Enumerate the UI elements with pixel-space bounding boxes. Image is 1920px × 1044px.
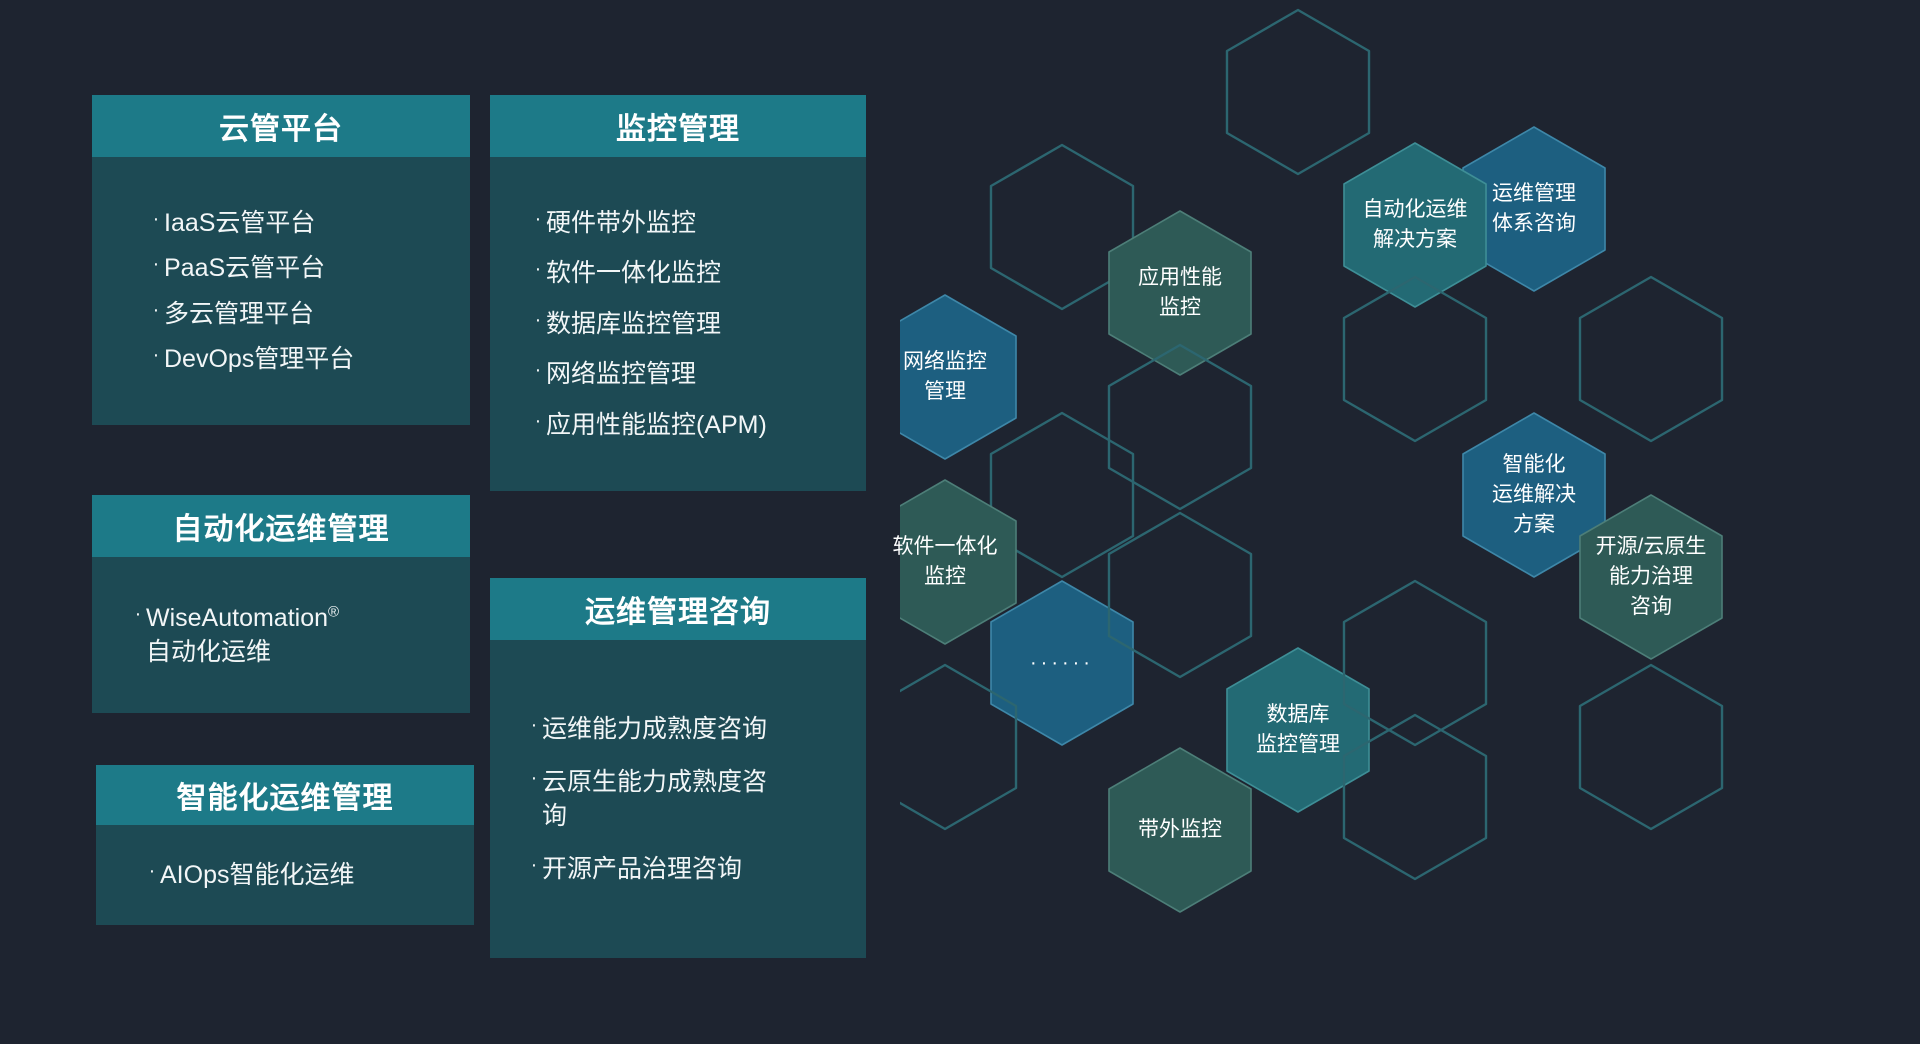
bullet-dot-icon: · — [148, 297, 164, 325]
list-item-label: 软件一体化监控 — [546, 256, 866, 291]
list-item-label: 多云管理平台 — [164, 297, 470, 332]
list-item-label: WiseAutomation®自动化运维 — [146, 601, 456, 670]
bullet-dot-icon: · — [148, 342, 164, 370]
list-item: ·云原生能力成熟度咨询 — [526, 765, 850, 834]
card-title-ops-consulting: 运维管理咨询 — [490, 578, 866, 640]
list-item: ·IaaS云管平台 — [148, 206, 470, 241]
list-item-label: 数据库监控管理 — [546, 307, 866, 342]
bullet-dot-icon: · — [530, 357, 546, 385]
bullet-dot-icon: · — [530, 206, 546, 234]
list-item-label: 硬件带外监控 — [546, 206, 866, 241]
hexagon-empty-far-right-upper — [1580, 277, 1722, 441]
bullet-dot-icon: · — [130, 601, 146, 629]
hexagon-empty-top-center — [1227, 10, 1369, 174]
registered-mark-icon: ® — [328, 603, 339, 620]
hexagon-empty-bottom-right — [1580, 665, 1722, 829]
list-item-label: 网络监控管理 — [546, 357, 866, 392]
bullet-dot-icon: · — [530, 256, 546, 284]
bullet-dot-icon: · — [148, 251, 164, 279]
card-aiops[interactable]: 智能化运维管理 ·AIOps智能化运维 — [96, 765, 474, 925]
list-item: ·应用性能监控(APM) — [530, 408, 866, 443]
list-item-label: IaaS云管平台 — [164, 206, 470, 241]
hexagon-grid-svg — [900, 0, 1920, 1044]
hexagon-app-perf-monitor[interactable] — [1109, 211, 1251, 375]
bullet-dot-icon: · — [530, 408, 546, 436]
bullet-dot-icon: · — [526, 712, 542, 740]
list-item-label: DevOps管理平台 — [164, 342, 470, 377]
list-item: ·硬件带外监控 — [530, 206, 866, 241]
card-title-monitoring: 监控管理 — [490, 95, 866, 157]
slide-root: 云管平台 ·IaaS云管平台·PaaS云管平台·多云管理平台·DevOps管理平… — [0, 0, 1920, 1044]
list-item: ·AIOps智能化运维 — [144, 858, 464, 893]
list-item: ·软件一体化监控 — [530, 256, 866, 291]
list-item: ·DevOps管理平台 — [148, 342, 470, 377]
hexagon-grid: 运维管理 体系咨询应用性能 监控自动化运维 解决方案网络监控 管理智能化 运维解… — [900, 0, 1920, 1044]
list-item: ·WiseAutomation®自动化运维 — [130, 601, 456, 670]
bullet-dot-icon: · — [148, 206, 164, 234]
card-body-cloud-platform: ·IaaS云管平台·PaaS云管平台·多云管理平台·DevOps管理平台 — [92, 157, 470, 425]
card-monitoring[interactable]: 监控管理 ·硬件带外监控·软件一体化监控·数据库监控管理·网络监控管理·应用性能… — [490, 95, 866, 491]
card-body-aiops: ·AIOps智能化运维 — [96, 825, 474, 925]
bullet-dot-icon: · — [526, 765, 542, 793]
bullet-dot-icon: · — [526, 852, 542, 880]
list-item-label: 运维能力成熟度咨询 — [542, 712, 850, 747]
list-item-label: PaaS云管平台 — [164, 251, 470, 286]
list-item-label: 开源产品治理咨询 — [542, 852, 850, 887]
card-ops-consulting[interactable]: 运维管理咨询 ·运维能力成熟度咨询·云原生能力成熟度咨询·开源产品治理咨询 — [490, 578, 866, 958]
list-item-label: 云原生能力成熟度咨询 — [542, 765, 850, 834]
list-item: ·运维能力成熟度咨询 — [526, 712, 850, 747]
list-item: ·开源产品治理咨询 — [526, 852, 850, 887]
card-title-automation-ops: 自动化运维管理 — [92, 495, 470, 557]
card-body-monitoring: ·硬件带外监控·软件一体化监控·数据库监控管理·网络监控管理·应用性能监控(AP… — [490, 157, 866, 491]
list-item: ·PaaS云管平台 — [148, 251, 470, 286]
card-cloud-platform[interactable]: 云管平台 ·IaaS云管平台·PaaS云管平台·多云管理平台·DevOps管理平… — [92, 95, 470, 425]
list-item: ·网络监控管理 — [530, 357, 866, 392]
capability-card-panel: 云管平台 ·IaaS云管平台·PaaS云管平台·多云管理平台·DevOps管理平… — [0, 0, 900, 1044]
card-body-automation-ops: ·WiseAutomation®自动化运维 — [92, 557, 470, 713]
card-automation-ops[interactable]: 自动化运维管理 ·WiseAutomation®自动化运维 — [92, 495, 470, 713]
list-item: ·多云管理平台 — [148, 297, 470, 332]
card-title-cloud-platform: 云管平台 — [92, 95, 470, 157]
list-item-label: AIOps智能化运维 — [160, 858, 464, 893]
bullet-dot-icon: · — [530, 307, 546, 335]
hexagon-network-monitor-mgmt[interactable] — [900, 295, 1016, 459]
list-item-label: 应用性能监控(APM) — [546, 408, 866, 443]
card-body-ops-consulting: ·运维能力成熟度咨询·云原生能力成熟度咨询·开源产品治理咨询 — [490, 640, 866, 958]
bullet-dot-icon: · — [144, 858, 160, 886]
list-item: ·数据库监控管理 — [530, 307, 866, 342]
card-title-aiops: 智能化运维管理 — [96, 765, 474, 825]
